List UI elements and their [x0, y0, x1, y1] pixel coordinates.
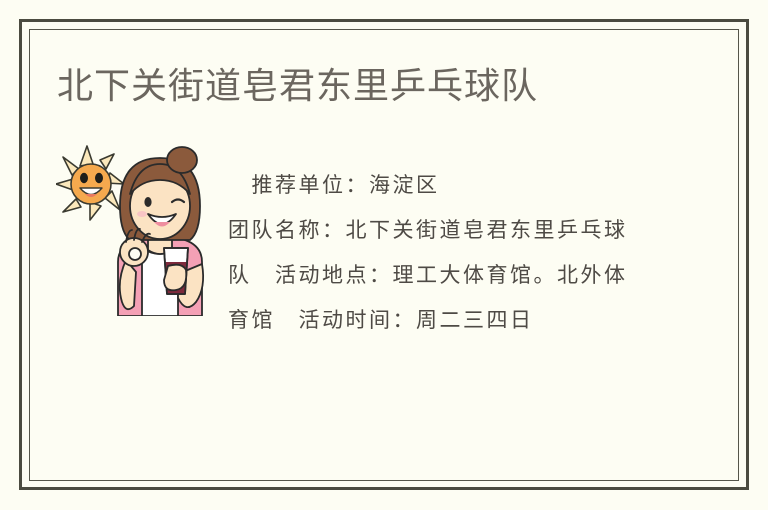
sun-icon — [56, 146, 124, 220]
illustration-woman-with-drink — [56, 144, 224, 316]
woman-figure — [118, 147, 203, 316]
page-title: 北下关街道皂君东里乒乓球队 — [57, 62, 538, 110]
poster-card: 北下关街道皂君东里乒乓球队 — [0, 0, 768, 510]
card-body-text: 推荐单位：海淀区 团队名称：北下关街道皂君东里乒乓球队 活动地点：理工大体育馆。… — [228, 163, 648, 343]
